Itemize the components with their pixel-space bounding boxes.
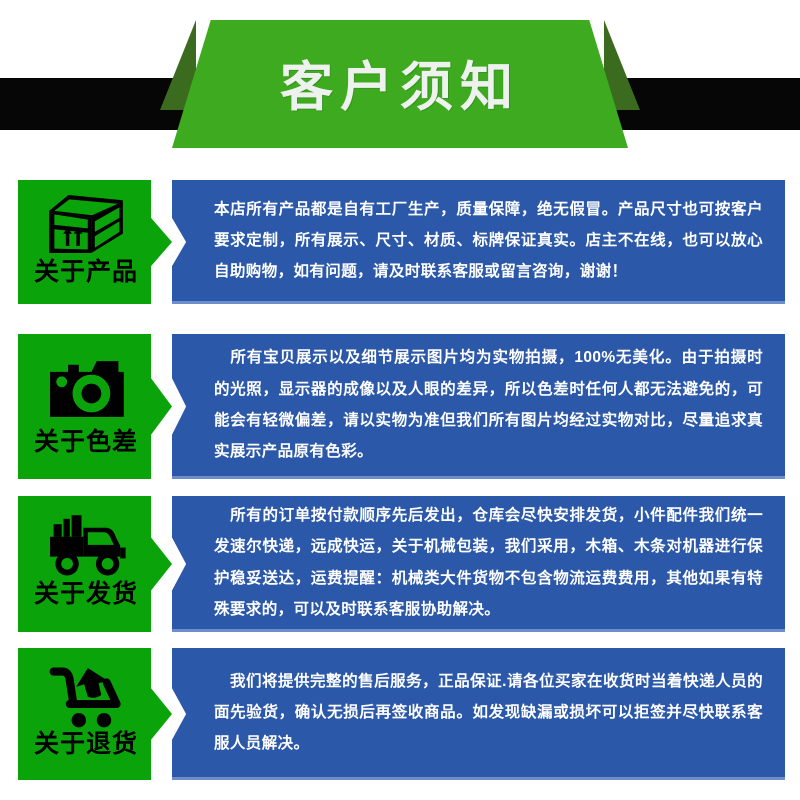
badge-return[interactable]: 关于退货 xyxy=(18,648,172,780)
panel-shipping: 所有的订单按付款顺序先后发出，仓库会尽快安排发货，小件配件我们统一发速尔快递，远… xyxy=(172,496,785,632)
page-title: 客户须知 xyxy=(280,61,520,114)
badge-label-product: 关于产品 xyxy=(34,260,138,285)
panel-text-shipping: 所有的订单按付款顺序先后发出，仓库会尽快安排发货，小件配件我们统一发速尔快递，远… xyxy=(172,500,785,625)
badge-label-color: 关于色差 xyxy=(34,430,138,455)
badge-label-shipping: 关于发货 xyxy=(34,582,138,607)
badge-label-return: 关于退货 xyxy=(34,732,138,757)
panel-text-color: 所有宝贝展示以及细节展示图片均为实物拍摄，100%无美化。由于拍摄时的光照，显示… xyxy=(172,342,785,467)
notice-row-return: 关于退货 我们将提供完整的售后服务，正品保证.请各位买家在收货时当着快递人员的面… xyxy=(0,648,800,780)
badge-shipping[interactable]: 关于发货 xyxy=(18,496,172,632)
page-header: 客户须知 xyxy=(0,0,800,160)
package-box-icon xyxy=(41,188,131,260)
panel-text-product: 本店所有产品都是自有工厂生产，质量保障，绝无假冒。产品尺寸也可按客户要求定制，所… xyxy=(172,194,785,288)
notice-row-product: 关于产品 本店所有产品都是自有工厂生产，质量保障，绝无假冒。产品尺寸也可按客户要… xyxy=(0,180,800,304)
panel-color: 所有宝贝展示以及细节展示图片均为实物拍摄，100%无美化。由于拍摄时的光照，显示… xyxy=(172,334,785,479)
customer-notice-page: 客户须知 xyxy=(0,0,800,800)
camera-icon xyxy=(41,348,131,430)
panel-return: 我们将提供完整的售后服务，正品保证.请各位买家在收货时当着快递人员的面先验货，确… xyxy=(172,648,785,780)
notice-row-shipping: 关于发货 所有的订单按付款顺序先后发出，仓库会尽快安排发货，小件配件我们统一发速… xyxy=(0,496,800,632)
forklift-truck-icon xyxy=(41,506,131,582)
return-cart-icon xyxy=(41,658,131,732)
badge-product[interactable]: 关于产品 xyxy=(18,180,172,304)
badge-color[interactable]: 关于色差 xyxy=(18,334,172,479)
panel-text-return: 我们将提供完整的售后服务，正品保证.请各位买家在收货时当着快递人员的面先验货，确… xyxy=(172,666,785,760)
panel-product: 本店所有产品都是自有工厂生产，质量保障，绝无假冒。产品尺寸也可按客户要求定制，所… xyxy=(172,180,785,304)
banner-ribbon: 客户须知 xyxy=(172,20,628,148)
notice-row-color: 关于色差 所有宝贝展示以及细节展示图片均为实物拍摄，100%无美化。由于拍摄时的… xyxy=(0,334,800,479)
